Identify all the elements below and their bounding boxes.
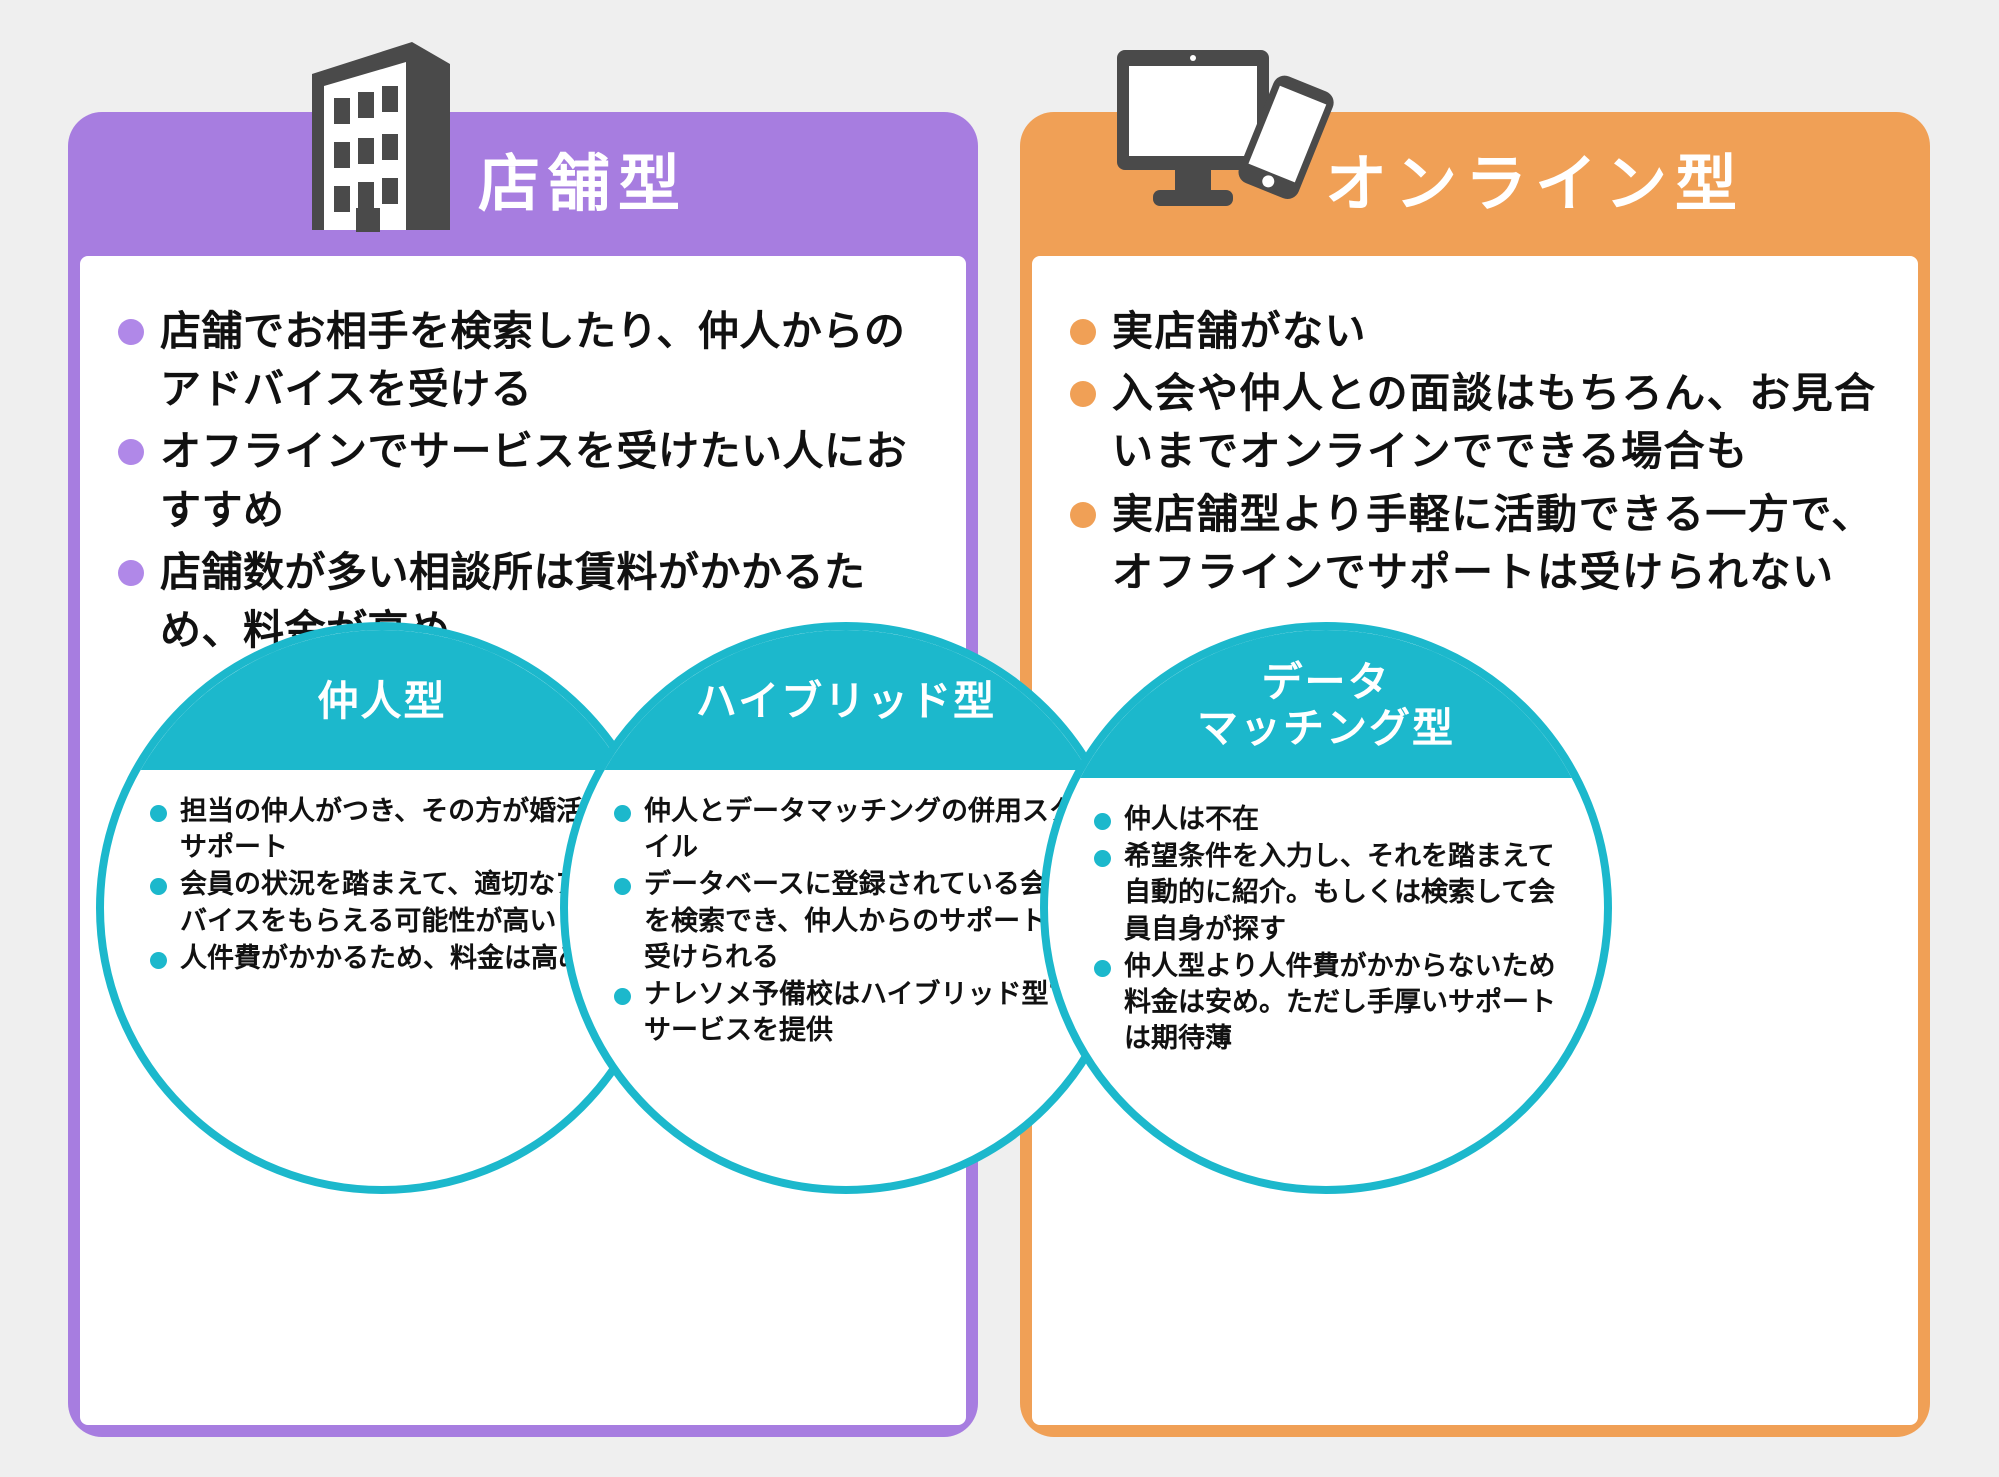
bullet-dot-icon	[150, 878, 167, 895]
bullet-dot-icon	[150, 805, 167, 822]
bullet-dot-icon	[150, 952, 167, 969]
bullet-dot-icon	[1070, 381, 1096, 407]
list-item: データベースに登録されている会員を検索でき、仲人からのサポートも受けられる	[614, 867, 1078, 976]
list-item-text: 実店舗型より手軽に活動できる一方で、オフラインでサポートは受けられない	[1112, 490, 1874, 596]
panel-store-type-header: 店舗型	[80, 112, 966, 256]
circle-hybrid-title: ハイブリッド型	[696, 665, 996, 725]
list-item: 仲人型より人件費がかからないため料金は安め。ただし手厚いサポートは期待薄	[1094, 949, 1558, 1058]
infographic-stage: 店舗型 店舗でお相手を検索したり、仲人からのアドバイスを受ける オフラインでサー…	[0, 0, 1999, 1477]
circle-data-matching-body: 仲人は不在 希望条件を入力し、それを踏まえて自動的に紹介。もしくは検索して会員自…	[1048, 788, 1604, 1058]
list-item-text: オフラインでサービスを受けたい人におすすめ	[160, 427, 907, 533]
bullet-dot-icon	[1094, 960, 1111, 977]
list-item-text: 仲人は不在	[1124, 804, 1259, 835]
list-item-text: ナレソメ予備校はハイブリッド型でサービスを提供	[644, 979, 1075, 1046]
circle-data-matching-cap: データ マッチング型	[1040, 622, 1612, 778]
list-item-text: 仲人型より人件費がかからないため料金は安め。ただし手厚いサポートは期待薄	[1124, 951, 1556, 1054]
circle-nakoudo-list: 担当の仲人がつき、その方が婚活をサポート 会員の状況を踏まえて、適切なアドバイス…	[150, 794, 614, 977]
circle-data-matching: データ マッチング型 仲人は不在 希望条件を入力し、それを踏まえて自動的に紹介。…	[1040, 622, 1612, 1194]
building-icon	[300, 32, 460, 232]
circle-data-matching-title: データ マッチング型	[1197, 646, 1455, 752]
circle-hybrid-list: 仲人とデータマッチングの併用スタイル データベースに登録されている会員を検索でき…	[614, 794, 1078, 1049]
list-item: 希望条件を入力し、それを踏まえて自動的に紹介。もしくは検索して会員自身が探す	[1094, 839, 1558, 948]
list-item: 仲人は不在	[1094, 802, 1558, 838]
store-type-bullet-list: 店舗でお相手を検索したり、仲人からのアドバイスを受ける オフラインでサービスを受…	[80, 256, 966, 659]
list-item-text: データベースに登録されている会員を検索でき、仲人からのサポートも受けられる	[644, 869, 1074, 972]
online-type-bullet-list: 実店舗がない 入会や仲人との面談はもちろん、お見合いまでオンラインでできる場合も…	[1032, 256, 1918, 601]
list-item: 実店舗型より手軽に活動できる一方で、オフラインでサポートは受けられない	[1066, 485, 1884, 601]
bullet-dot-icon	[118, 319, 144, 345]
desktop-mobile-icon	[1105, 40, 1345, 230]
list-item-text: 店舗でお相手を検索したり、仲人からのアドバイスを受ける	[160, 307, 905, 413]
bullet-dot-icon	[1094, 850, 1111, 867]
bullet-dot-icon	[1094, 813, 1111, 830]
list-item-text: 希望条件を入力し、それを踏まえて自動的に紹介。もしくは検索して会員自身が探す	[1124, 841, 1555, 944]
bullet-dot-icon	[614, 988, 631, 1005]
circle-nakoudo-title: 仲人型	[318, 665, 447, 725]
list-item-text: 人件費がかかるため、料金は高め	[180, 943, 585, 974]
bullet-dot-icon	[1070, 319, 1096, 345]
list-item: 入会や仲人との面談はもちろん、お見合いまでオンラインでできる場合も	[1066, 364, 1884, 480]
bullet-dot-icon	[118, 439, 144, 465]
list-item: 仲人とデータマッチングの併用スタイル	[614, 794, 1078, 866]
circle-hybrid-cap: ハイブリッド型	[560, 622, 1132, 770]
circle-data-matching-list: 仲人は不在 希望条件を入力し、それを踏まえて自動的に紹介。もしくは検索して会員自…	[1094, 802, 1558, 1057]
bullet-dot-icon	[1070, 502, 1096, 528]
list-item-text: 担当の仲人がつき、その方が婚活をサポート	[180, 796, 610, 863]
list-item: 人件費がかかるため、料金は高め	[150, 941, 614, 977]
list-item: ナレソメ予備校はハイブリッド型でサービスを提供	[614, 977, 1078, 1049]
bullet-dot-icon	[614, 878, 631, 895]
list-item-text: 入会や仲人との面談はもちろん、お見合いまでオンラインでできる場合も	[1112, 369, 1877, 475]
list-item: 店舗でお相手を検索したり、仲人からのアドバイスを受ける	[114, 302, 932, 418]
list-item: 担当の仲人がつき、その方が婚活をサポート	[150, 794, 614, 866]
list-item-text: 会員の状況を踏まえて、適切なアドバイスをもらえる可能性が高い	[180, 869, 609, 936]
list-item: オフラインでサービスを受けたい人におすすめ	[114, 422, 932, 538]
list-item-text: 実店舗がない	[1112, 307, 1367, 355]
list-item-text: 仲人とデータマッチングの併用スタイル	[644, 796, 1076, 863]
list-item: 会員の状況を踏まえて、適切なアドバイスをもらえる可能性が高い	[150, 867, 614, 939]
bullet-dot-icon	[118, 560, 144, 586]
list-item: 実店舗がない	[1066, 302, 1884, 360]
bullet-dot-icon	[614, 805, 631, 822]
